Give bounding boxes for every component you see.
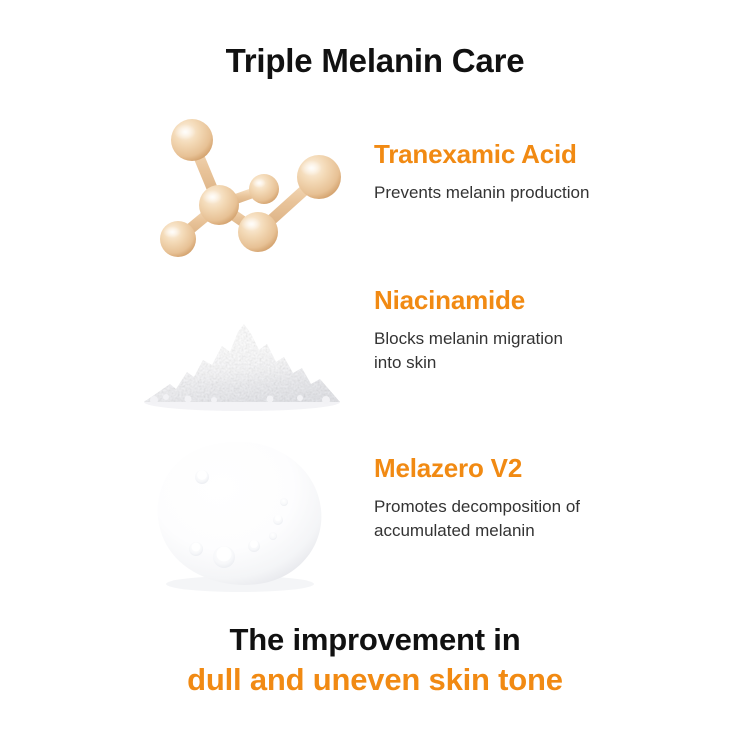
ingredient-description-line: Promotes decomposition of: [374, 495, 704, 519]
ingredient-description: Blocks melanin migration into skin: [374, 327, 704, 375]
footer-line-accent: dull and uneven skin tone: [0, 660, 750, 700]
white-powder-mound-icon: [130, 280, 360, 440]
molecule-icon: [130, 108, 360, 268]
ingredient-description-line: accumulated melanin: [374, 519, 704, 543]
page-title: Triple Melanin Care: [0, 42, 750, 80]
footer-line-primary: The improvement in: [0, 620, 750, 660]
ingredient-row-niacinamide: Niacinamide Blocks melanin migration int…: [0, 280, 750, 440]
ingredient-description-line: into skin: [374, 351, 704, 375]
ingredient-copy: Melazero V2 Promotes decomposition of ac…: [374, 454, 704, 543]
ingredient-description: Prevents melanin production: [374, 181, 704, 205]
ingredient-copy: Niacinamide Blocks melanin migration int…: [374, 286, 704, 375]
ingredient-row-melazero-v2: Melazero V2 Promotes decomposition of ac…: [0, 432, 750, 592]
ingredient-description-line: Blocks melanin migration: [374, 327, 704, 351]
ingredient-copy: Tranexamic Acid Prevents melanin product…: [374, 140, 704, 205]
ingredient-name: Niacinamide: [374, 286, 704, 315]
product-infographic: Triple Melanin Care: [0, 0, 750, 750]
ingredient-description: Promotes decomposition of accumulated me…: [374, 495, 704, 543]
ingredient-name: Tranexamic Acid: [374, 140, 704, 169]
footer-message: The improvement in dull and uneven skin …: [0, 620, 750, 699]
white-cream-droplet-icon: [130, 432, 360, 607]
ingredient-row-tranexamic-acid: Tranexamic Acid Prevents melanin product…: [0, 108, 750, 268]
ingredient-name: Melazero V2: [374, 454, 704, 483]
